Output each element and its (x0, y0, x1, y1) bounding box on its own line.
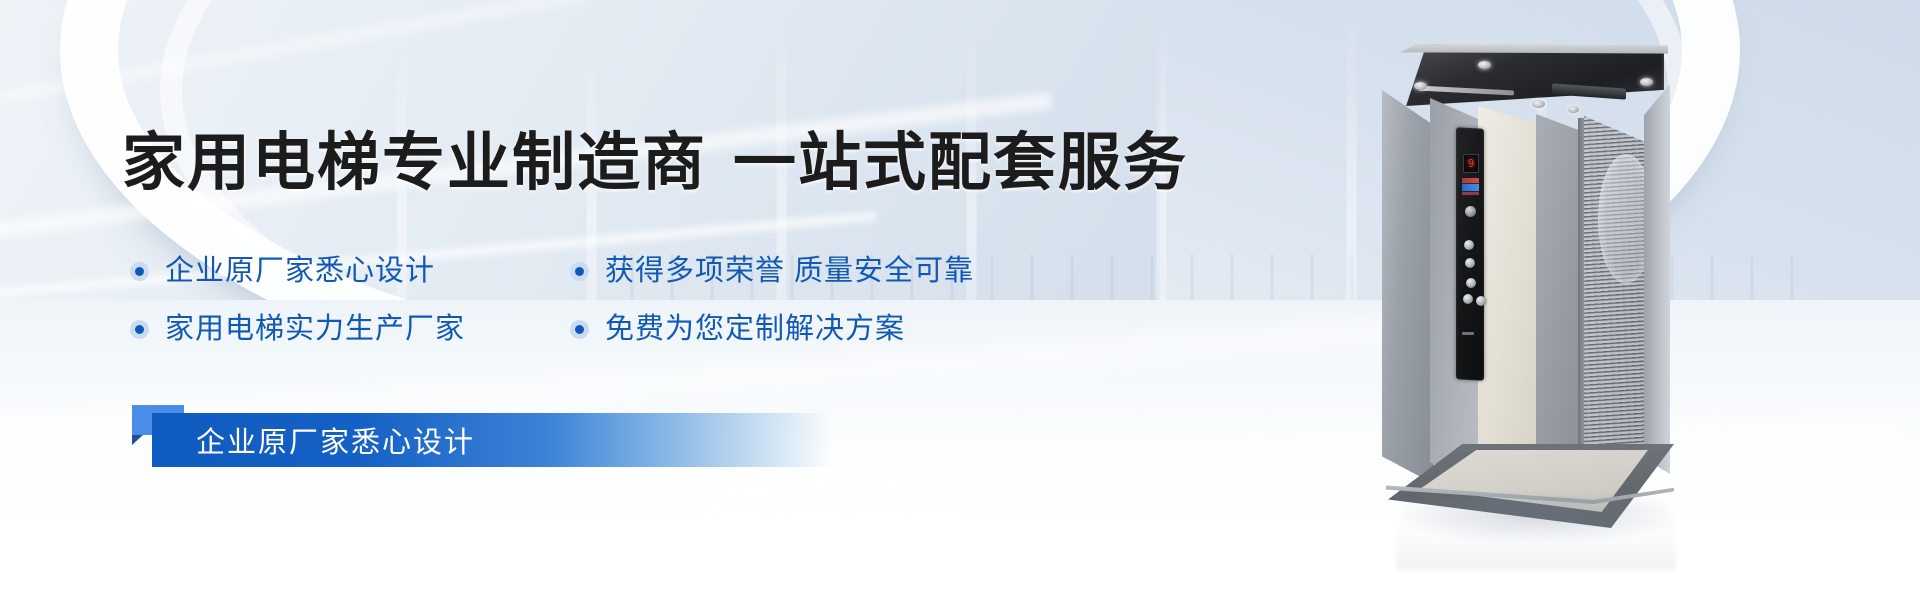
headline-part-1: 家用电梯专业制造商 (122, 128, 707, 198)
floor-button (1464, 240, 1474, 250)
cabin-left-wall (1382, 90, 1434, 484)
ribbon-label: 企业原厂家悉心设计 (196, 413, 475, 467)
feature-item-3: 家用电梯实力生产厂家 (130, 314, 570, 346)
feature-row: 家用电梯实力生产厂家 免费为您定制解决方案 (130, 314, 1130, 346)
ceiling-spotlight-icon (1640, 78, 1653, 86)
ceiling-spotlight-icon (1414, 82, 1427, 90)
door-open-button (1463, 294, 1473, 304)
bullet-dot-icon (570, 262, 589, 281)
ceiling-spotlight-icon (1532, 100, 1545, 108)
feature-item-4: 免费为您定制解决方案 (570, 314, 905, 346)
bullet-dot-icon (570, 320, 589, 339)
headline-part-2: 一站式配套服务 (733, 128, 1188, 198)
cabin-reflection (1396, 500, 1676, 570)
elevator-cabin-image: 9 (1372, 44, 1672, 484)
feature-item-1: 企业原厂家悉心设计 (130, 256, 570, 288)
cabin-wall-panel (1536, 114, 1584, 474)
feature-list: 企业原厂家悉心设计 获得多项荣誉 质量安全可靠 家用电梯实力生产厂家 免费为您定… (130, 256, 1130, 372)
feature-label: 获得多项荣誉 质量安全可靠 (605, 256, 974, 288)
highlight-ribbon: 企业原厂家悉心设计 (132, 413, 832, 467)
home-elevator-hero-banner: 家用电梯专业制造商一站式配套服务 企业原厂家悉心设计 获得多项荣誉 质量安全可靠… (0, 0, 1920, 600)
bullet-dot-icon (130, 262, 149, 281)
feature-label: 免费为您定制解决方案 (605, 314, 905, 346)
floor-button (1465, 258, 1475, 268)
panel-brand-logo (1462, 332, 1474, 335)
bullet-dot-icon (130, 320, 149, 339)
feature-label: 企业原厂家悉心设计 (165, 256, 435, 288)
cabin-cream-panel (1478, 106, 1540, 478)
ceiling-spotlight-icon (1478, 61, 1491, 69)
feature-row: 企业原厂家悉心设计 获得多项荣誉 质量安全可靠 (130, 256, 1130, 288)
control-panel-lcd (1462, 178, 1479, 196)
cabin-right-wall (1644, 84, 1670, 474)
ceiling-spotlight-icon (1568, 106, 1579, 113)
feature-label: 家用电梯实力生产厂家 (165, 314, 465, 346)
door-close-button (1476, 296, 1486, 306)
banner-headline: 家用电梯专业制造商一站式配套服务 (122, 132, 1188, 195)
floor-indicator-display: 9 (1463, 154, 1479, 173)
feature-item-2: 获得多项荣誉 质量安全可靠 (570, 256, 974, 288)
floor-button (1466, 278, 1476, 288)
panel-speaker-icon (1465, 206, 1476, 217)
